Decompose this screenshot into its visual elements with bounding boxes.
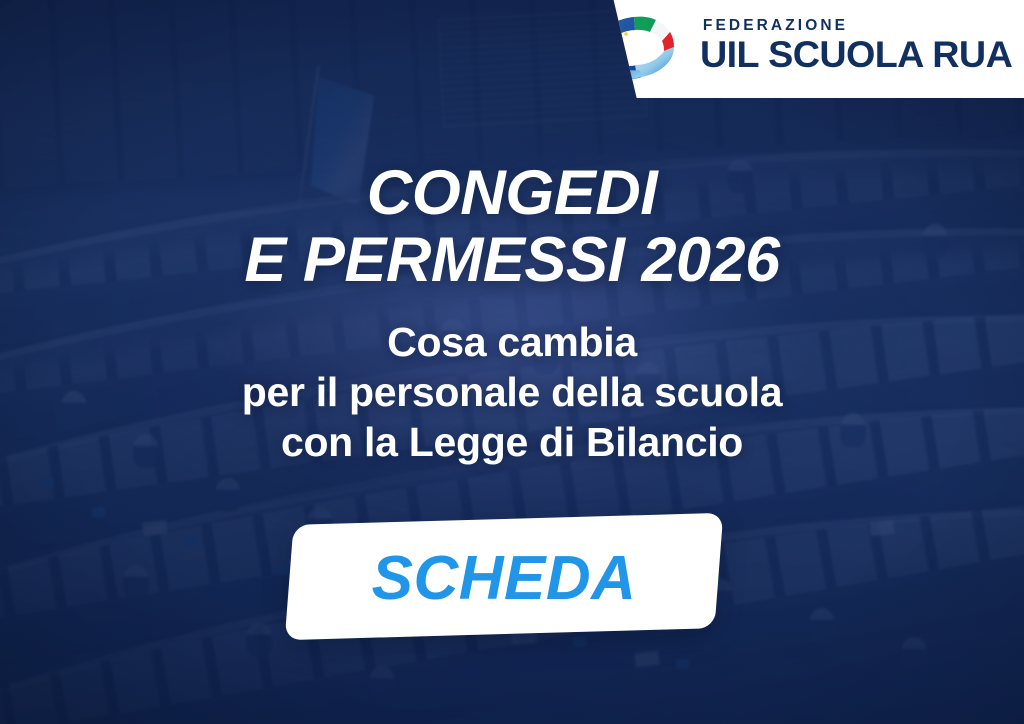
logo-eyebrow-federazione: FEDERAZIONE [703, 18, 848, 34]
poster-canvas: FEDERAZIONE UIL SCUOLA RUA CONGEDI E PER… [0, 0, 1024, 724]
subtitle-line-3: con la Legge di Bilancio [242, 417, 782, 467]
title-line-1: CONGEDI [244, 160, 779, 227]
scheda-button[interactable]: SCHEDA [289, 519, 719, 634]
logo-wordmark-block: FEDERAZIONE UIL SCUOLA RUA [700, 18, 1006, 75]
header-logo-plate: FEDERAZIONE UIL SCUOLA RUA [596, 0, 1024, 98]
title-line-2: E PERMESSI 2026 [244, 227, 779, 294]
logo-wordmark-uil-scuola-rua: UIL SCUOLA RUA [700, 36, 1012, 74]
page-subtitle: Cosa cambia per il personale della scuol… [242, 317, 782, 467]
subtitle-line-1: Cosa cambia [242, 317, 782, 367]
subtitle-line-2: per il personale della scuola [242, 367, 782, 417]
main-content: CONGEDI E PERMESSI 2026 Cosa cambia per … [0, 160, 1024, 467]
scheda-button-label[interactable]: SCHEDA [289, 521, 719, 636]
page-title: CONGEDI E PERMESSI 2026 [244, 160, 779, 295]
brand-logo: FEDERAZIONE UIL SCUOLA RUA [588, 6, 1006, 88]
